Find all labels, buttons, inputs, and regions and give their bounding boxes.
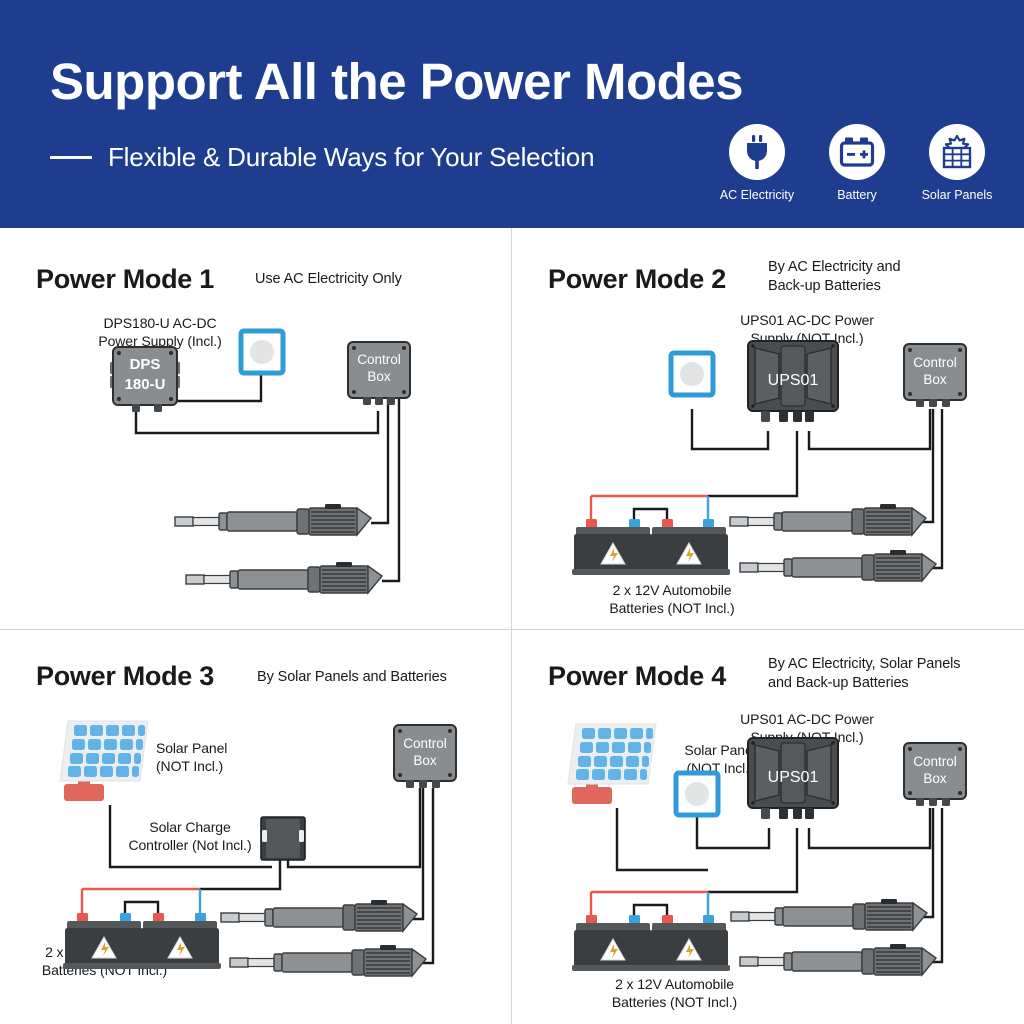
diagram-mode-2: UPS01 Control Box [512,231,1024,629]
battery-icon [829,124,885,180]
panel-power-mode-2: Power Mode 2 By AC Electricity and Back-… [512,231,1024,629]
wire-controller-to-controlbox [288,788,420,867]
control-box-label-line1: Control [357,352,401,367]
wall-outlet-icon [241,331,283,373]
wire-controller-to-battery [200,860,280,889]
header-icon-ac-electricity: AC Electricity [722,124,792,202]
linear-actuator-1 [730,504,926,535]
linear-actuator-2 [740,944,936,975]
wire-outlet-to-ups [697,815,769,848]
ups-box-label: UPS01 [768,372,819,389]
wire-solar-to-controller [110,805,272,867]
control-box-label-line2: Box [413,753,437,768]
header-icon-label: Battery [837,188,877,202]
wire-controlbox-to-actuator-1 [412,788,423,919]
battery-2 [139,913,221,969]
control-box-label-line1: Control [913,754,957,769]
header-banner: Support All the Power Modes Flexible & D… [0,0,1024,228]
panel-power-mode-4: Power Mode 4 By AC Electricity, Solar Pa… [512,630,1024,1024]
battery-wiring [82,889,200,917]
control-box-2: Control Box [904,344,966,407]
control-box-3: Control Box [394,725,456,788]
ups01-box: UPS01 [748,341,838,422]
header-subtitle-row: Flexible & Durable Ways for Your Selecti… [50,142,594,173]
wall-outlet-icon [676,773,718,815]
header-icon-battery: Battery [822,124,892,202]
diagram-mode-3: Control Box [0,630,512,1024]
solar-panel-icon [929,124,985,180]
diagram-mode-1: DPS 180-U Control Box [0,231,512,629]
battery-1 [572,915,654,971]
control-box-1: Control Box [348,342,410,405]
battery-1 [63,913,145,969]
wire-ups-to-battery [708,828,797,892]
linear-actuator-1 [731,899,927,930]
battery-wiring [591,892,708,919]
solar-panel-graphic [568,724,656,804]
ups-box-label: UPS01 [768,769,819,786]
dash-rule [50,156,92,159]
header-icon-label: AC Electricity [720,188,794,202]
solar-panel-graphic [60,721,148,801]
panel-power-mode-1: Power Mode 1 Use AC Electricity Only DPS… [0,231,512,629]
power-modes-infographic: Support All the Power Modes Flexible & D… [0,0,1024,1024]
wire-ups-to-controlbox [809,808,930,848]
page-title: Support All the Power Modes [50,52,743,111]
diagram-mode-4: UPS01 Control Box [512,630,1024,1024]
control-box-label-line2: Box [923,771,947,786]
psu-box-label-line1: DPS [130,356,161,373]
header-icon-group: AC Electricity Battery [722,124,992,202]
solar-charge-controller [261,817,305,860]
header-icon-label: Solar Panels [922,188,993,202]
control-box-label-line2: Box [367,369,391,384]
control-box-label-line1: Control [913,355,957,370]
control-box-4: Control Box [904,743,966,806]
wire-controlbox-to-actuator-2 [382,379,399,581]
wire-ups-to-battery [708,431,797,496]
header-icon-solar-panels: Solar Panels [922,124,992,202]
control-box-label-line2: Box [923,372,947,387]
battery-1 [572,519,654,575]
plug-icon [729,124,785,180]
wire-ups-to-controlbox [809,409,930,449]
battery-2 [648,519,730,575]
panel-power-mode-3: Power Mode 3 By Solar Panels and Batteri… [0,630,512,1024]
battery-2 [648,915,730,971]
psu-box-label-line2: 180-U [125,376,166,393]
linear-actuator-2 [230,945,426,976]
battery-wiring [591,496,708,523]
linear-actuator-2 [186,562,382,593]
control-box-label-line1: Control [403,736,447,751]
header-subtitle: Flexible & Durable Ways for Your Selecti… [108,142,594,173]
ups01-box: UPS01 [748,738,838,819]
wall-outlet-icon [671,353,713,395]
dps180u-box: DPS 180-U [110,347,180,412]
linear-actuator-1 [221,900,417,931]
linear-actuator-2 [740,550,936,581]
wire-outlet-to-ups [692,409,768,449]
wire-controlbox-to-actuator-1 [922,808,933,917]
linear-actuator-1 [175,504,371,535]
